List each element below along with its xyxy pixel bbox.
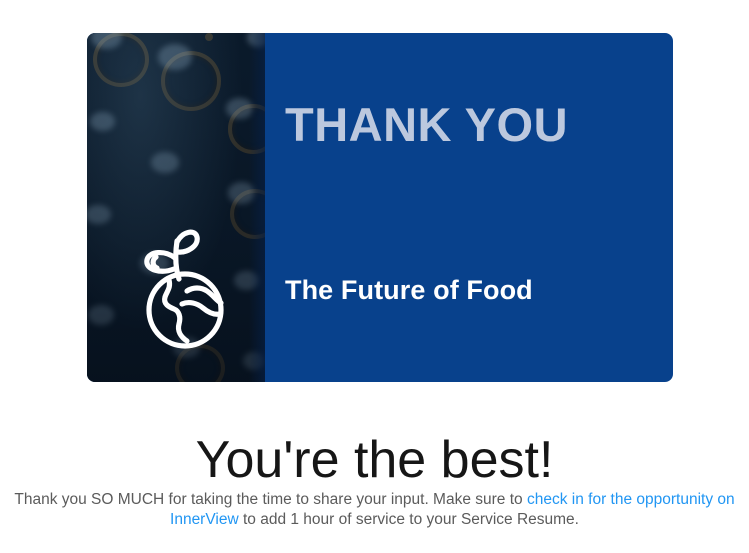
- photo-edge-fade: [249, 33, 265, 382]
- banner-tagline: The Future of Food: [285, 277, 533, 304]
- message-part-1: Thank you SO MUCH for taking the time to…: [14, 491, 527, 508]
- banner-headline: THANK YOU: [285, 101, 568, 148]
- message-part-2: to add 1 hour of service to your Service…: [239, 511, 579, 528]
- globe-sprout-icon: [125, 225, 243, 350]
- page-title: You're the best!: [0, 429, 749, 491]
- banner-text-block: THANK YOU The Future of Food: [285, 33, 673, 382]
- banner-card: THANK YOU The Future of Food: [87, 33, 673, 382]
- blueberries-photo: [87, 33, 265, 382]
- confirmation-message: Thank you SO MUCH for taking the time to…: [8, 490, 741, 530]
- thank-you-banner: THANK YOU The Future of Food: [87, 33, 673, 382]
